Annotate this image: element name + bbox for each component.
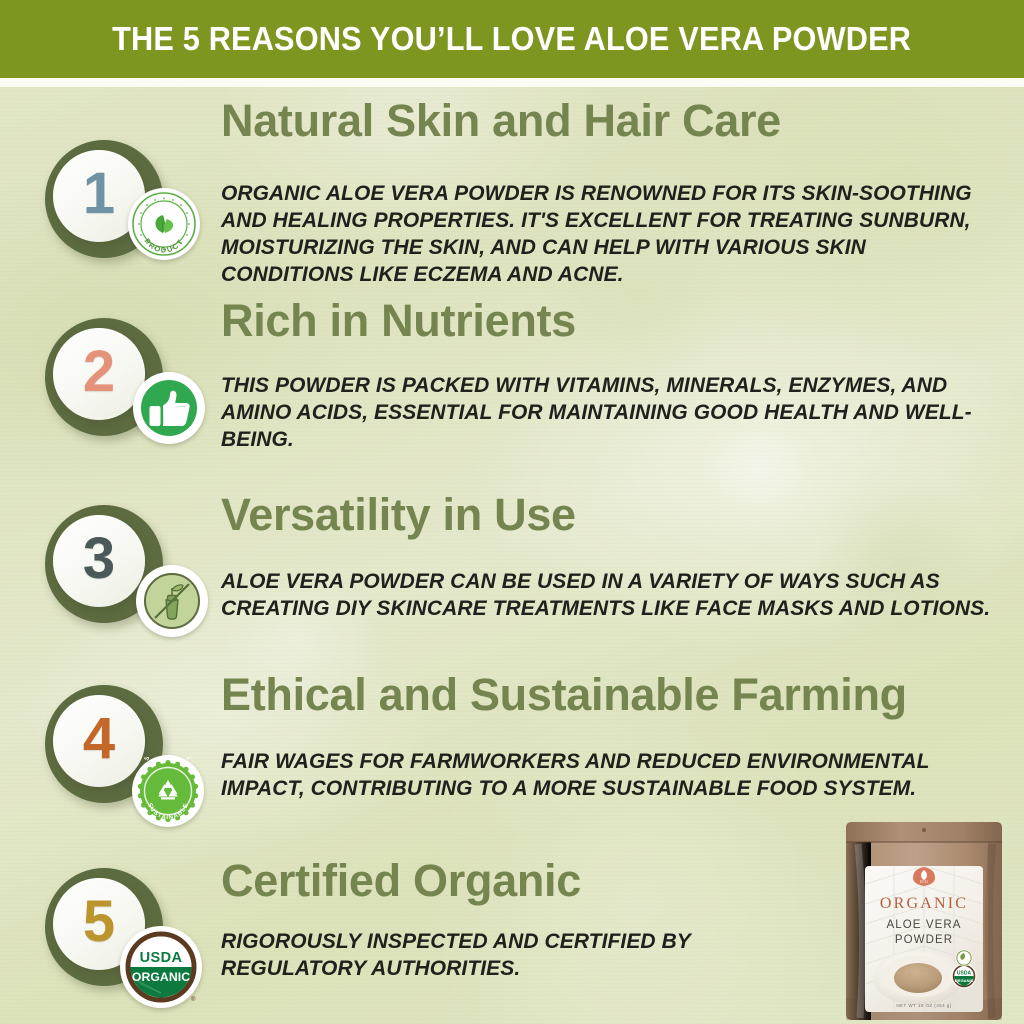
reason-body-3: ALOE VERA POWDER CAN BE USED IN A VARIET… <box>221 568 1001 622</box>
header-bar: THE 5 REASONS YOU’LL LOVE ALOE VERA POWD… <box>0 0 1024 78</box>
product-name-line1: ALOE VERA <box>886 919 961 931</box>
reason-heading-2: Rich in Nutrients <box>221 298 576 345</box>
product-package-image: ECO ORGANIC ALOE VERA POWDER USDA ORGANI… <box>836 808 1012 1024</box>
product-name-line2: POWDER <box>895 934 953 946</box>
reason-heading-4: Ethical and Sustainable Farming <box>221 672 907 719</box>
natural-product-seal-icon: NATURAL PRODUCT <box>128 188 200 260</box>
svg-text:ORGANIC: ORGANIC <box>132 970 190 984</box>
svg-text:ECO: ECO <box>920 880 928 884</box>
svg-text:ORGANIC: ORGANIC <box>955 978 974 983</box>
seedling-plant-icon <box>136 565 208 637</box>
number-medallion-inner-3: 3 <box>53 515 145 607</box>
svg-text:®: ® <box>191 996 196 1003</box>
number-medallion-inner-4: 4 <box>53 695 145 787</box>
reason-number-3: 3 <box>83 530 115 588</box>
page-title: THE 5 REASONS YOU’LL LOVE ALOE VERA POWD… <box>112 20 911 58</box>
reason-body-5: RIGOROUSLY INSPECTED AND CERTIFIED BY RE… <box>221 928 806 982</box>
svg-text:USDA: USDA <box>140 950 183 966</box>
sustainable-recycling-seal-icon: SUSTAINABLE SUSTAINABLE <box>132 755 204 827</box>
svg-text:USDA: USDA <box>957 971 972 977</box>
reason-heading-3: Versatility in Use <box>221 492 576 539</box>
reason-number-4: 4 <box>83 710 115 768</box>
reason-heading-1: Natural Skin and Hair Care <box>221 98 781 145</box>
reason-body-1: ORGANIC ALOE VERA POWDER IS RENOWNED FOR… <box>221 180 1001 288</box>
number-medallion-inner-2: 2 <box>53 328 145 420</box>
product-brand-mark: ORGANIC <box>880 895 968 912</box>
thumbs-up-icon <box>133 372 205 444</box>
reason-body-2: THIS POWDER IS PACKED WITH VITAMINS, MIN… <box>221 372 1001 453</box>
reason-number-5: 5 <box>83 893 115 951</box>
header-underline-divider <box>0 78 1024 87</box>
reason-body-4: FAIR WAGES FOR FARMWORKERS AND REDUCED E… <box>221 748 962 802</box>
svg-text:NET WT 16 OZ (454 g): NET WT 16 OZ (454 g) <box>896 1003 951 1008</box>
reason-number-1: 1 <box>83 165 115 223</box>
reason-number-2: 2 <box>83 343 115 401</box>
reason-heading-5: Certified Organic <box>221 858 581 905</box>
usda-organic-seal-icon: USDA ORGANIC ® <box>120 926 202 1008</box>
infographic-poster: THE 5 REASONS YOU’LL LOVE ALOE VERA POWD… <box>0 0 1024 1024</box>
